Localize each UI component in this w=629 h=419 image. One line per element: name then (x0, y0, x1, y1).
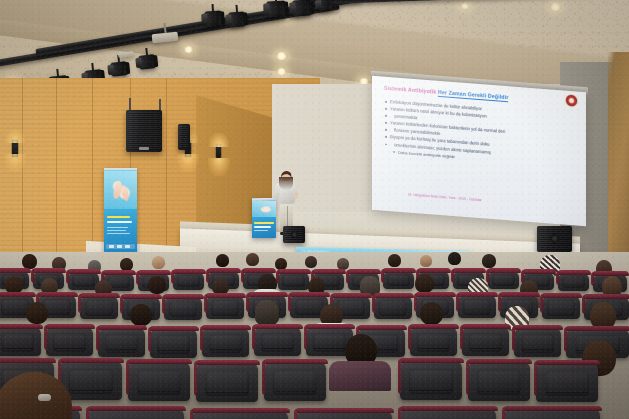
wall-speaker-mid (178, 124, 190, 150)
podium-banner-line (254, 230, 268, 231)
seat (458, 294, 496, 318)
headscarf (255, 300, 279, 325)
seat (558, 272, 589, 291)
seat (206, 295, 244, 319)
stage-spotlight-icon (318, 0, 333, 11)
hand-illustration (120, 185, 130, 202)
seat (88, 408, 184, 419)
wall-sconce-icon (216, 144, 221, 158)
projection-screen: Sistemik Antibiyotik Her Zaman Gerekli D… (372, 76, 586, 226)
head (388, 254, 401, 267)
seat (488, 270, 519, 289)
seat (264, 361, 326, 401)
seat (202, 327, 249, 357)
speaker-grille (128, 112, 160, 150)
presenter-hair-length (279, 177, 293, 190)
downlight-icon (183, 46, 194, 53)
stage-spotlight-icon (292, 0, 312, 16)
seat (542, 295, 580, 319)
head (420, 255, 432, 267)
speaker-grille (180, 126, 188, 148)
stage-spotlight-icon (266, 0, 287, 17)
rollup-top-rail (104, 168, 137, 170)
rollup-subtitle-line (107, 221, 133, 223)
seat (383, 270, 414, 289)
monitor-driver (550, 234, 559, 243)
downlight-icon (460, 3, 470, 9)
wall-sconce-icon (12, 140, 18, 157)
rollup-title-line (107, 216, 131, 218)
seat (462, 326, 509, 356)
rollup-body-line (107, 230, 125, 231)
hair-clip-icon (38, 394, 51, 401)
slide-title-prefix: Sistemik Antibiyotik (384, 86, 436, 96)
floor-monitor-right (537, 226, 572, 252)
stage-spotlight-icon (228, 11, 246, 27)
rollup-body-line (107, 233, 130, 234)
slide-reference-citation: Dr. Vasgülsüm Arda Güler, Yara - 2019 - … (408, 193, 482, 203)
rollup-body-line (107, 227, 128, 228)
seat (46, 326, 93, 356)
podium-banner-photo (252, 201, 276, 217)
podium-banner-subtitle-line (254, 226, 270, 228)
head (130, 304, 152, 326)
sponsor-logo (117, 245, 122, 248)
seat (0, 326, 41, 356)
head (148, 276, 166, 294)
seat (164, 296, 202, 320)
floor-monitor-left (283, 226, 305, 243)
stage-spotlight-icon (138, 54, 156, 70)
head (420, 302, 443, 325)
slide-bullet-list: Enfeksiyon düşünmemezse de kültür alınab… (384, 99, 576, 169)
head (482, 254, 496, 268)
downlight-icon (276, 68, 287, 75)
seat (128, 361, 190, 401)
monitor-driver (291, 231, 298, 238)
head (216, 254, 229, 267)
head (183, 256, 197, 270)
slide-title-highlight: Her Zaman Gerekli Değildir (438, 90, 509, 102)
seat (504, 408, 600, 419)
seat (196, 362, 258, 402)
head (22, 254, 37, 269)
rollup-sponsor-strip (106, 244, 135, 249)
seat (514, 327, 561, 357)
seat (98, 327, 145, 357)
seat (254, 326, 301, 356)
head (415, 274, 434, 293)
podium-banner-title-line (254, 222, 273, 224)
head (26, 302, 48, 324)
head (246, 253, 259, 266)
seat (278, 271, 309, 290)
head (448, 252, 461, 265)
seat (173, 271, 204, 290)
speaker-badge (139, 147, 149, 150)
head (305, 256, 317, 268)
seat (374, 295, 412, 319)
presentation-slide: Sistemik Antibiyotik Her Zaman Gerekli D… (372, 76, 586, 226)
downlight-icon (549, 3, 562, 11)
podium-lectern (252, 198, 276, 238)
stage-spotlight-icon (204, 10, 223, 26)
rollup-banner-left (104, 168, 137, 254)
wall-speaker-left (126, 110, 162, 152)
seat (80, 295, 118, 319)
sponsor-logo (109, 245, 114, 248)
seat (400, 408, 496, 419)
presenter-hand (294, 194, 298, 199)
seat (468, 361, 530, 401)
downlight-icon (275, 52, 288, 60)
seat (536, 362, 598, 402)
seat (400, 360, 462, 400)
auditorium-photo: Sistemik Antibiyotik Her Zaman Gerekli D… (0, 0, 629, 419)
audience-seating-area (0, 252, 629, 419)
seat (192, 410, 288, 419)
seat (410, 326, 457, 356)
head (152, 256, 165, 269)
rollup-photo-area (104, 171, 137, 209)
seat (296, 410, 392, 419)
sponsor-logo (125, 245, 130, 248)
stage-spotlight-icon (110, 61, 128, 77)
seat (150, 328, 197, 358)
shoulders (329, 361, 391, 391)
